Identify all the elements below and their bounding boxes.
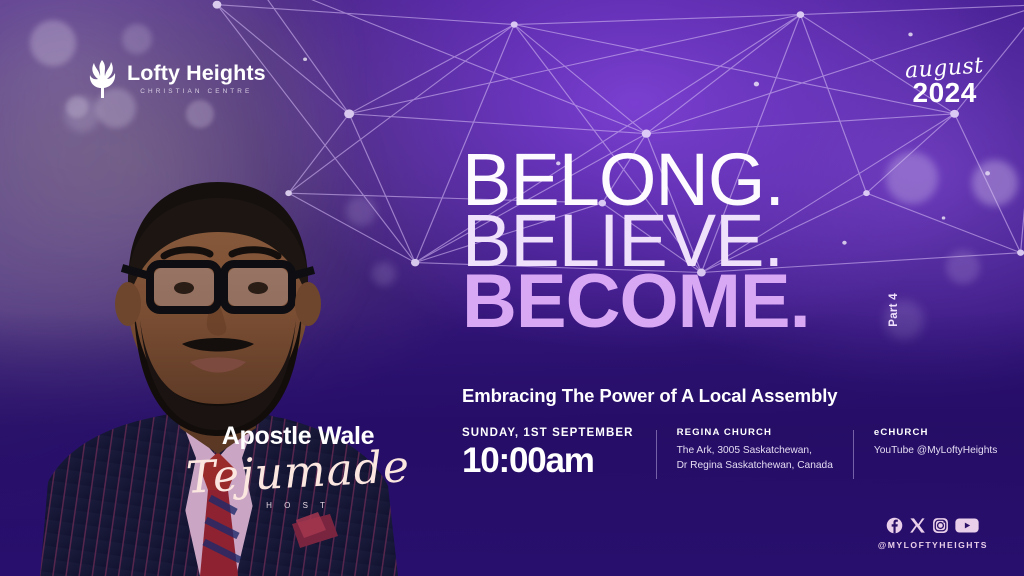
date-month: august [905,55,985,82]
online-channel: YouTube @MyLoftyHeights [874,443,997,458]
social-icon-row [878,517,988,534]
social-handle: @MYLOFTYHEIGHTS [878,540,988,550]
event-info-bar: SUNDAY, 1ST SEPTEMBER 10:00am REGINA CHU… [462,428,997,479]
date-badge: august 2024 [905,58,984,107]
event-date-label: SUNDAY, 1ST SEPTEMBER [462,428,634,440]
logo-subtitle: CHRISTIAN CENTRE [127,89,266,95]
logo-name: Lofty Heights [127,63,266,85]
youtube-icon[interactable] [955,517,979,534]
facebook-icon[interactable] [886,517,903,534]
brand-logo: Lofty Heights CHRISTIAN CENTRE [88,58,266,100]
x-twitter-icon[interactable] [909,517,926,534]
speaker-script-name: Tejumade [177,445,419,502]
info-column-venue: REGINA CHURCH The Ark, 3005 Saskatchewan… [657,428,853,473]
venue-title: REGINA CHURCH [677,428,833,438]
instagram-icon[interactable] [932,517,949,534]
headline-line-3: BECOME. [462,272,882,333]
online-title: eCHURCH [874,428,997,438]
venue-address-line-2: Dr Regina Saskatchewan, Canada [677,458,833,473]
headline-subtitle: Embracing The Power of A Local Assembly [462,385,837,407]
event-flyer: Lofty Heights CHRISTIAN CENTRE august 20… [0,0,1024,576]
flame-leaf-logo-icon [88,58,118,100]
venue-address-line-1: The Ark, 3005 Saskatchewan, [677,443,833,458]
speaker-block: Apostle Wale Tejumade H O S T [178,424,418,510]
headline-block: BELONG. BELIEVE. BECOME. Part 4 [462,150,882,333]
event-time: 10:00am [462,443,634,480]
info-column-when: SUNDAY, 1ST SEPTEMBER 10:00am [462,428,656,479]
info-column-online: eCHURCH YouTube @MyLoftyHeights [854,428,997,458]
social-block: @MYLOFTYHEIGHTS [878,517,988,550]
series-part-label: Part 4 [888,293,900,327]
